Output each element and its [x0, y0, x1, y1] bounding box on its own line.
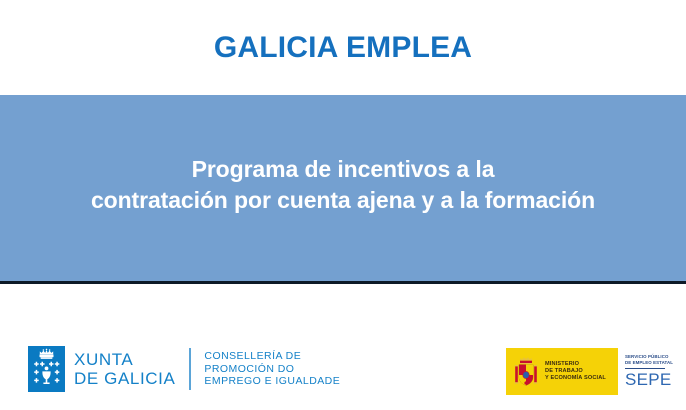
program-title-line-2: contratación por cuenta ajena y a la for…: [0, 185, 686, 216]
program-title-line-1: Programa de incentivos a la: [0, 154, 686, 185]
footer-divider: [189, 348, 191, 390]
xunta-wordmark-line-2: DE GALICIA: [74, 369, 175, 388]
conselleria-label: CONSELLERÍA DE PROMOCIÓN DO EMPREGO E IG…: [204, 350, 340, 388]
conselleria-line-3: EMPREGO E IGUALDADE: [204, 375, 340, 388]
ministerio-line-3: Y ECONOMÍA SOCIAL: [545, 375, 606, 382]
ministerio-line-1: MINISTERIO: [545, 361, 606, 368]
ministerio-label: MINISTERIO DE TRABAJO Y ECONOMÍA SOCIAL: [545, 361, 606, 383]
sepe-logo: SERVICIO PÚBLICO DE EMPLEO ESTATAL SEPE: [618, 348, 678, 395]
spain-coat-of-arms-icon: [513, 355, 539, 388]
xunta-wordmark-line-1: XUNTA: [74, 350, 175, 369]
xunta-wordmark: XUNTA DE GALICIA: [74, 350, 175, 388]
footer-logos: XUNTA DE GALICIA CONSELLERÍA DE PROMOCIÓ…: [0, 284, 686, 410]
conselleria-line-2: PROMOCIÓN DO: [204, 363, 340, 376]
sepe-rule: [625, 368, 665, 369]
header-banner: GALICIA EMPLEA: [0, 0, 686, 95]
page-title: GALICIA EMPLEA: [214, 31, 472, 65]
sepe-acronym: SEPE: [625, 370, 678, 389]
conselleria-line-1: CONSELLERÍA DE: [204, 350, 340, 363]
sepe-full-name-line-2: DE EMPLEO ESTATAL: [625, 360, 678, 366]
ministerio-line-2: DE TRABAJO: [545, 368, 606, 375]
program-banner-text: Programa de incentivos a la contratación…: [0, 154, 686, 216]
xunta-emblem-icon: [28, 346, 65, 392]
sepe-full-name: SERVICIO PÚBLICO DE EMPLEO ESTATAL: [625, 354, 678, 365]
program-banner: Programa de incentivos a la contratación…: [0, 95, 686, 281]
xunta-de-galicia-logo: XUNTA DE GALICIA CONSELLERÍA DE PROMOCIÓ…: [28, 346, 340, 392]
ministerio-de-trabajo-logo: MINISTERIO DE TRABAJO Y ECONOMÍA SOCIAL: [506, 348, 618, 395]
